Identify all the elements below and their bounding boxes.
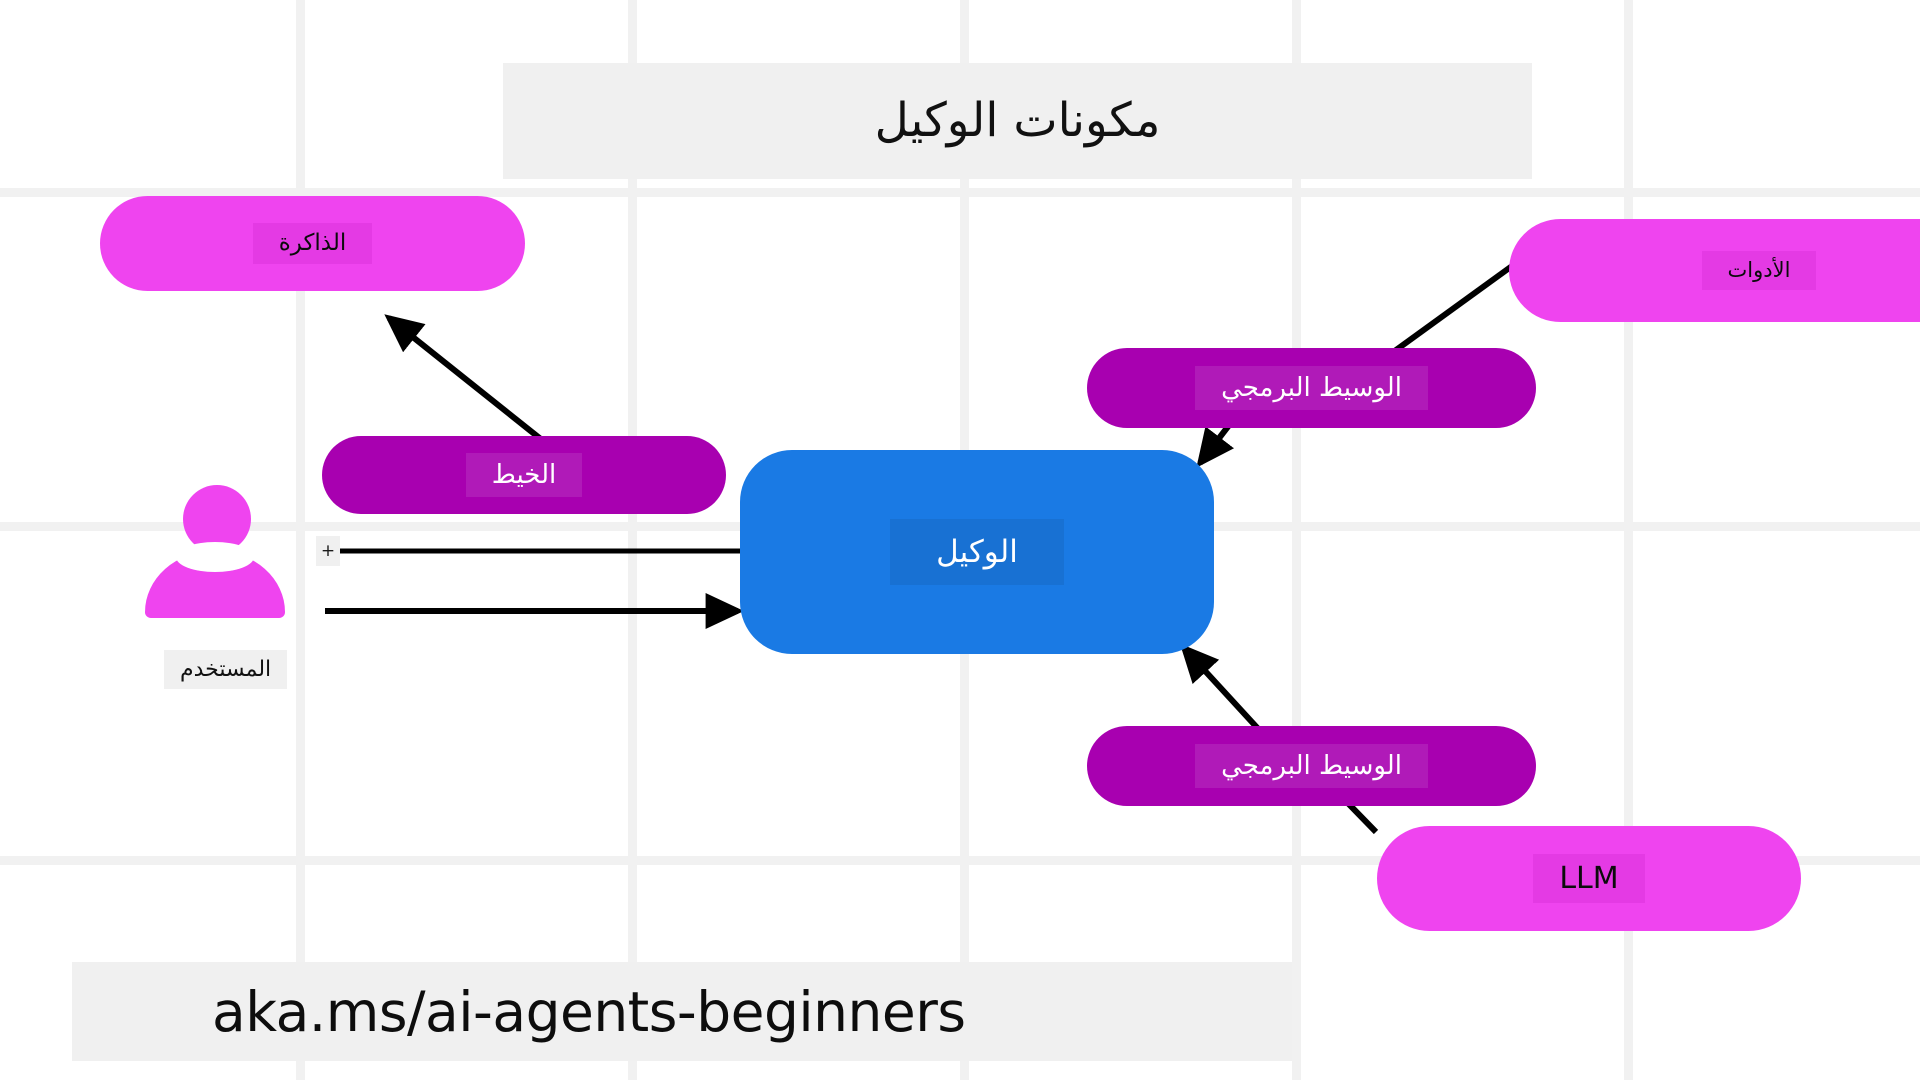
- node-middleware-bottom-label: الوسيط البرمجي: [1195, 744, 1428, 789]
- node-agent[interactable]: الوكيل: [740, 450, 1214, 654]
- edge-tools-to-middleware-top: [1385, 266, 1512, 358]
- footer-band: aka.ms/ai-agents-beginners: [72, 962, 1292, 1061]
- node-agent-label: الوكيل: [890, 519, 1064, 586]
- diagram-canvas: مكونات الوكيل الذاكرة الأدوات الخيط: [0, 0, 1920, 1080]
- user-person-icon[interactable]: [145, 485, 285, 618]
- page-title: مكونات الوكيل: [875, 95, 1161, 147]
- node-middleware-top-label: الوسيط البرمجي: [1195, 366, 1428, 411]
- node-thread[interactable]: الخيط: [322, 436, 726, 514]
- user-body-shape: [145, 551, 285, 618]
- user-label: المستخدم: [164, 650, 287, 689]
- title-band: مكونات الوكيل: [503, 63, 1532, 179]
- node-llm-label: LLM: [1533, 854, 1644, 904]
- node-thread-label: الخيط: [466, 453, 582, 498]
- node-tools[interactable]: الأدوات: [1509, 219, 1920, 322]
- node-llm[interactable]: LLM: [1377, 826, 1801, 931]
- edge-middleware-bottom-to-agent: [1184, 648, 1262, 733]
- node-memory-label: الذاكرة: [253, 223, 373, 264]
- node-tools-label: الأدوات: [1702, 251, 1817, 289]
- footer-link[interactable]: aka.ms/ai-agents-beginners: [212, 980, 966, 1044]
- plus-marker: +: [316, 536, 340, 566]
- node-middleware-bottom[interactable]: الوسيط البرمجي: [1087, 726, 1536, 806]
- edge-thread-to-memory: [389, 318, 552, 448]
- node-memory[interactable]: الذاكرة: [100, 196, 525, 291]
- node-middleware-top[interactable]: الوسيط البرمجي: [1087, 348, 1536, 428]
